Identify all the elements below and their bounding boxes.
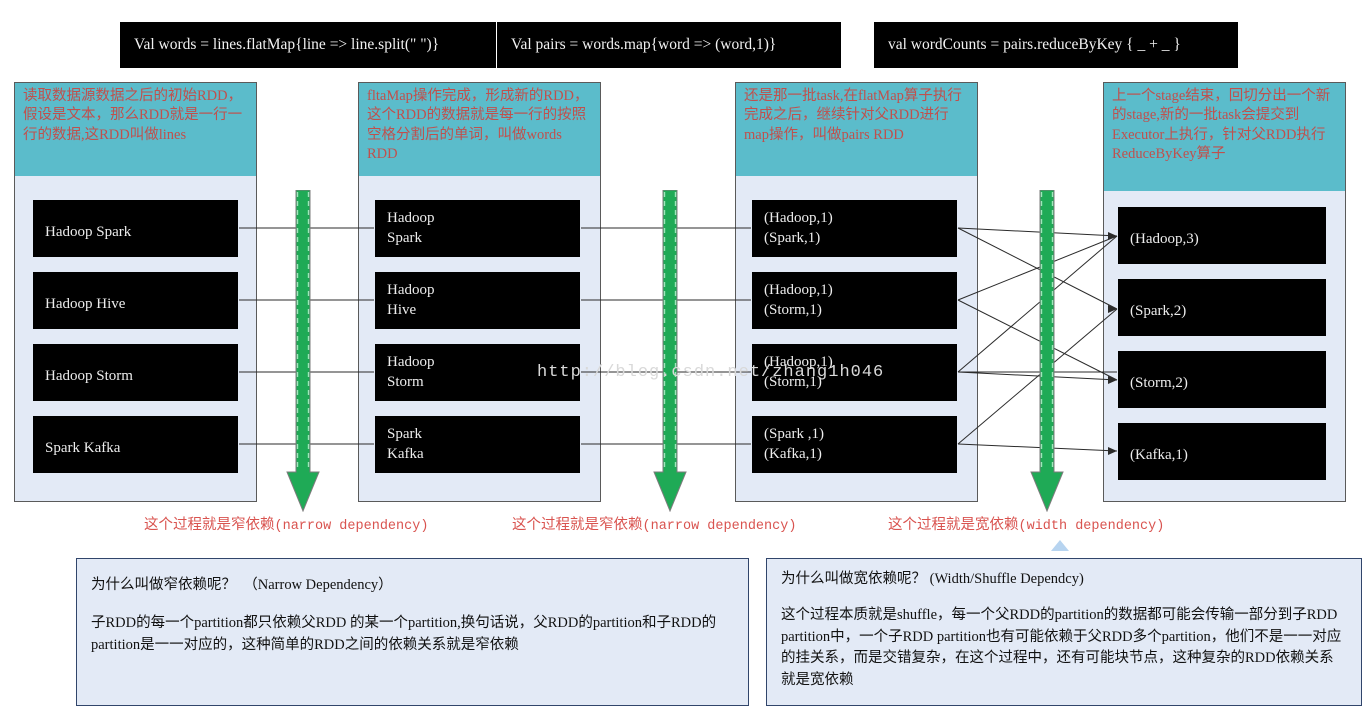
rdd-cell: (Hadoop,1) (Storm,1) <box>752 272 957 329</box>
code-text: Val pairs = words.map{word => (word,1)} <box>511 36 776 53</box>
rdd-cell: Spark Kafka <box>375 416 580 473</box>
explanation-box-wide: 为什么叫做宽依赖呢？ (Width/Shuffle Dependcy) 这个过程… <box>766 558 1362 706</box>
explanation-body: 子RDD的每一个partition都只依赖父RDD 的某一个partition,… <box>91 613 734 657</box>
rdd-cell: Hadoop Storm <box>375 344 580 401</box>
code-text: Val words = lines.flatMap{line => line.s… <box>134 36 439 53</box>
code-text: val wordCounts = pairs.reduceByKey { _ +… <box>888 36 1181 53</box>
caption-en: (width dependency) <box>1019 519 1165 534</box>
rdd-cell: Hadoop Storm <box>33 344 238 401</box>
stage-header-pairs: 还是那一批task,在flatMap算子执行完成之后，继续针对父RDD进行map… <box>736 83 977 176</box>
stage-header-words: fltaMap操作完成，形成新的RDD，这个RDD的数据就是每一行的按照空格分割… <box>359 83 600 176</box>
rdd-cell: Spark Kafka <box>33 416 238 473</box>
caption-wide-dependency: 这个过程就是宽依赖(width dependency) <box>888 513 1164 534</box>
rdd-cell: Hadoop Hive <box>375 272 580 329</box>
caption-cn: 这个过程就是窄依赖 <box>144 517 275 533</box>
flow-arrow-green-3 <box>1030 190 1064 512</box>
stage-header-wordcounts: 上一个stage结束，回切分出一个新的stage,新的一批task会提交到Exe… <box>1104 83 1345 191</box>
diagram-canvas: Val words = lines.flatMap{line => line.s… <box>0 0 1372 722</box>
caption-cn: 这个过程就是宽依赖 <box>888 517 1019 533</box>
caption-en: (narrow dependency) <box>643 519 797 534</box>
explanation-title: 为什么叫做宽依赖呢？ (Width/Shuffle Dependcy) <box>781 569 1347 591</box>
stage-header-lines: 读取数据源数据之后的初始RDD，假设是文本，那么RDD就是一行一行的数据,这RD… <box>15 83 256 176</box>
explanation-title: 为什么叫做窄依赖呢？ （Narrow Dependency） <box>91 575 734 597</box>
flow-arrow-green-2 <box>653 190 687 512</box>
explanation-body: 这个过程本质就是shuffle，每一个父RDD的partition的数据都可能会… <box>781 605 1347 692</box>
code-box-reducebykey: val wordCounts = pairs.reduceByKey { _ +… <box>874 22 1238 68</box>
rdd-cell: (Hadoop,3) <box>1118 207 1326 264</box>
rdd-cell: Hadoop Hive <box>33 272 238 329</box>
rdd-cell: (Spark,2) <box>1118 279 1326 336</box>
caption-cn: 这个过程就是窄依赖 <box>512 517 643 533</box>
pointer-marker-icon <box>1050 540 1070 552</box>
rdd-cell: (Kafka,1) <box>1118 423 1326 480</box>
rdd-cell: (Hadoop,1) (Storm,1) <box>752 344 957 401</box>
rdd-cell: (Spark ,1) (Kafka,1) <box>752 416 957 473</box>
caption-narrow-dependency-2: 这个过程就是窄依赖(narrow dependency) <box>512 513 796 534</box>
flow-arrow-green-1 <box>286 190 320 512</box>
code-box-flatmap: Val words = lines.flatMap{line => line.s… <box>120 22 496 68</box>
caption-narrow-dependency-1: 这个过程就是窄依赖(narrow dependency) <box>144 513 428 534</box>
rdd-cell: (Storm,2) <box>1118 351 1326 408</box>
rdd-cell: Hadoop Spark <box>375 200 580 257</box>
caption-en: (narrow dependency) <box>275 519 429 534</box>
rdd-cell: Hadoop Spark <box>33 200 238 257</box>
explanation-box-narrow: 为什么叫做窄依赖呢？ （Narrow Dependency） 子RDD的每一个p… <box>76 558 749 706</box>
rdd-cell: (Hadoop,1) (Spark,1) <box>752 200 957 257</box>
code-box-map: Val pairs = words.map{word => (word,1)} <box>497 22 841 68</box>
